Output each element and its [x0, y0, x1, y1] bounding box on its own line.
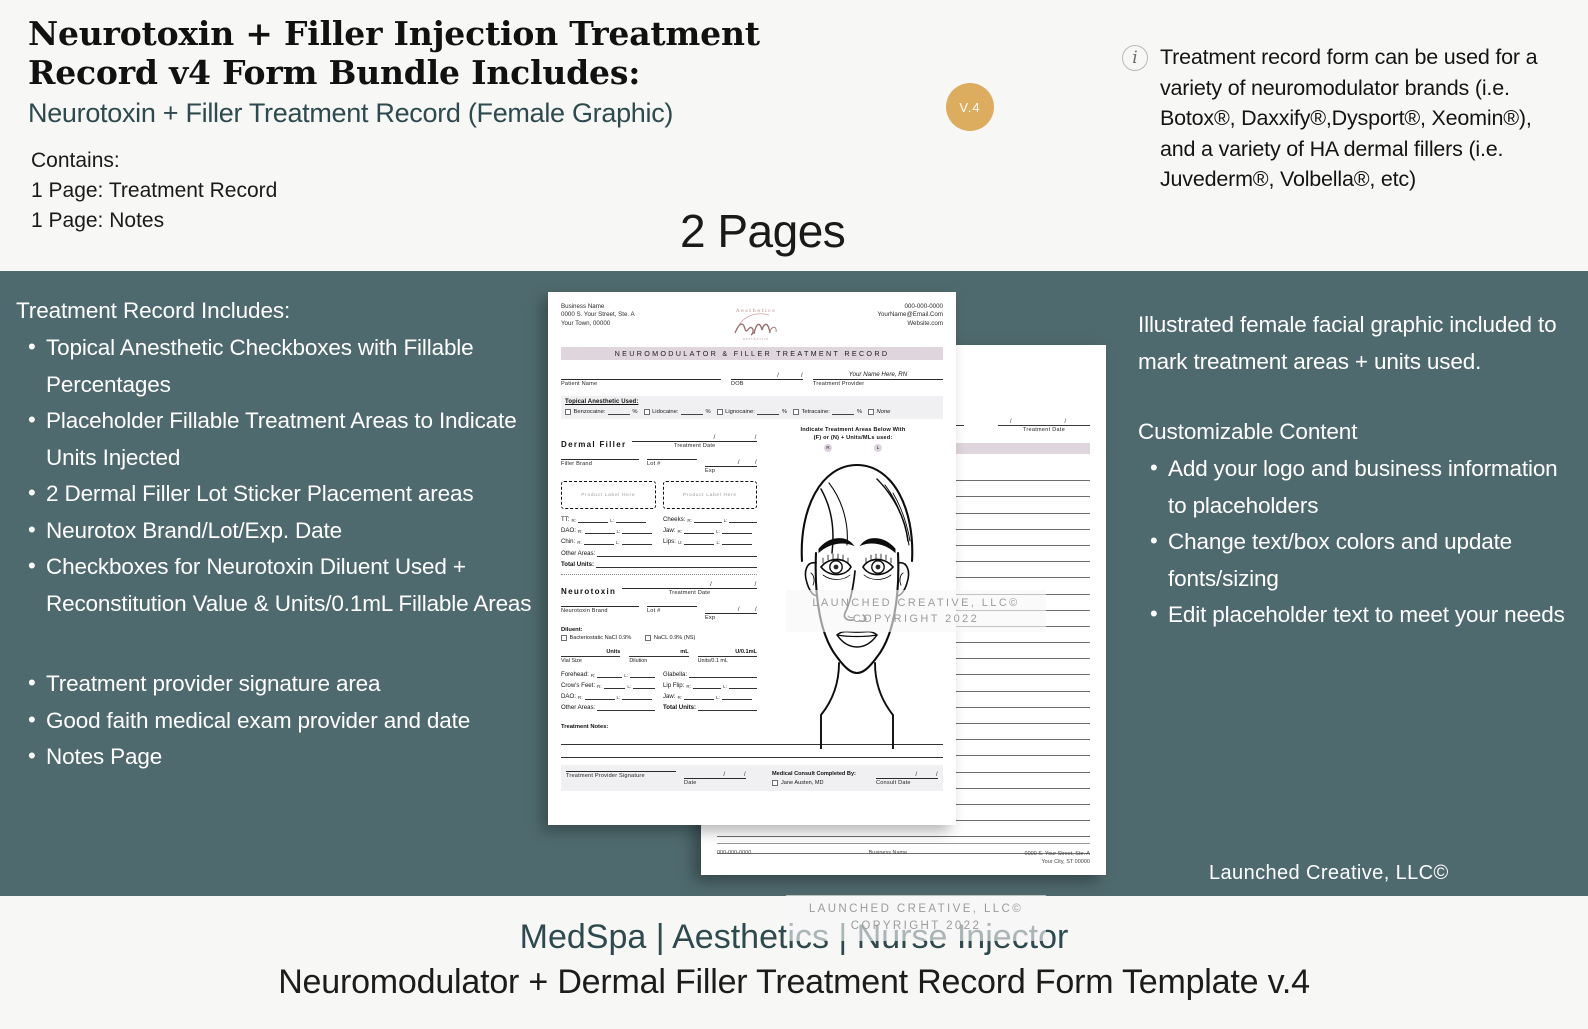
units-input[interactable]: [630, 671, 655, 678]
form-letterhead: Business Name 0000 S. Your Street, Ste. …: [561, 303, 943, 343]
filler-lot-field[interactable]: Lot #: [647, 459, 697, 474]
units-input[interactable]: [693, 682, 721, 689]
patient-name-field[interactable]: Patient Name: [561, 379, 721, 387]
diluent-label: NaCL 0.9% (NS): [654, 635, 695, 641]
area-name: Jaw:: [663, 527, 676, 534]
side-left-label: L:: [627, 684, 631, 689]
diluent-label: Bacteriostatic NaCl 0.9%: [570, 635, 632, 641]
anesthetic-option-lignocaine[interactable]: Lignocaine: %: [717, 409, 787, 415]
side-left-label: L:: [610, 518, 614, 523]
anesthetic-label: Benzocaine:: [574, 409, 606, 415]
treatment-date-label: Treatment Date: [622, 589, 757, 596]
svg-text:Aesthetics: Aesthetics: [735, 308, 776, 314]
neuro-area-jaw[interactable]: Jaw: R: L:: [663, 693, 757, 700]
neuro-area-dao[interactable]: DAO: R: L:: [561, 693, 655, 700]
area-name: Chin:: [561, 538, 575, 545]
area-name: Lips:: [663, 538, 676, 545]
filler-treatment-areas: TT: R: L: Cheeks: R: L:: [561, 516, 757, 568]
units-cap: U/0.1mL: [698, 649, 757, 657]
consult-date-field[interactable]: // Consult Date: [876, 771, 938, 786]
units-cap: Units: [561, 649, 620, 657]
diluent-options: Bacteriostatic NaCl 0.9% NaCL 0.9% (NS): [561, 635, 757, 641]
form-banner-title: NEUROMODULATOR & FILLER TREATMENT RECORD: [561, 347, 943, 360]
total-units-input[interactable]: [596, 561, 757, 568]
area-name: Jaw:: [663, 693, 676, 700]
business-name: Business Name: [561, 303, 635, 311]
table-row: DAO: R: L: Jaw: R: L:: [561, 527, 757, 534]
section-divider: [561, 574, 757, 575]
units-sub: Dilution: [629, 657, 688, 664]
product-title-line2: Record v4 Form Bundle Includes:: [28, 53, 988, 92]
table-row: TT: R: L: Cheeks: R: L:: [561, 516, 757, 523]
product-label-box[interactable]: Product Label Here: [561, 481, 656, 509]
dob-field[interactable]: // DOB: [731, 372, 803, 387]
units-input[interactable]: [585, 693, 615, 700]
other-areas-input[interactable]: [597, 550, 757, 557]
neurotoxin-treatment-areas: Forehead: R: L: Glabella:: [561, 671, 757, 712]
checkbox-benzocaine[interactable]: [565, 409, 571, 415]
units-input[interactable]: [729, 682, 757, 689]
bottom-caption-band: MedSpa | Aesthetics | Nurse Injector Neu…: [0, 896, 1588, 1029]
checkbox-tetracaine[interactable]: [793, 409, 799, 415]
neurotoxin-title: Neurotoxin: [561, 587, 616, 596]
diluent-option-bacteriostatic[interactable]: Bacteriostatic NaCl 0.9%: [561, 635, 631, 641]
neuro-area-crows-feet[interactable]: Crow's Feet: R: L:: [561, 682, 655, 689]
treatment-provider-value: Your Name Here, RN: [813, 371, 943, 379]
percent-input[interactable]: [608, 409, 630, 415]
side-left-label: L:: [716, 695, 720, 700]
medical-consult-provider[interactable]: Jane Austen, MD: [772, 780, 868, 786]
signature-label: Treatment Provider Signature: [566, 772, 676, 779]
percent-symbol: %: [782, 409, 787, 415]
area-name: Crow's Feet:: [561, 682, 595, 689]
list-item: 2 Dermal Filler Lot Sticker Placement ar…: [16, 476, 556, 513]
date-label: Date: [684, 779, 746, 786]
side-left-label: L:: [724, 518, 728, 523]
anesthetic-option-none[interactable]: None: [868, 409, 890, 415]
units-per-tenth-ml-field[interactable]: U/0.1mL Units/0.1 mL: [698, 649, 757, 664]
anesthetic-label: Lignocaine:: [725, 409, 755, 415]
topical-anesthetic-options: Benzocaine: % Lidocaine: % Lignocaine:: [565, 409, 939, 415]
list-item: Good faith medical exam provider and dat…: [16, 703, 556, 740]
side-left-label: L:: [716, 529, 720, 534]
face-diagram-column: Indicate Treatment Areas Below With (F) …: [763, 427, 943, 716]
letterhead-contact: 000-000-0000 YourName@Email.Com Website.…: [877, 303, 943, 328]
reconstitution-row: Units Vial Size mL Dilution U/0.1mL Unit…: [561, 649, 757, 664]
neuro-area-glabella[interactable]: Glabella:: [663, 671, 757, 678]
neurotoxin-brand-field[interactable]: Neurotoxin Brand: [561, 606, 639, 621]
caption-line1: MedSpa | Aesthetics | Nurse Injector: [0, 918, 1588, 957]
notes-treatment-date-field: / / Treatment Date: [998, 419, 1090, 433]
percent-input[interactable]: [681, 409, 703, 415]
list-item: Checkboxes for Neurotoxin Diluent Used +…: [16, 549, 556, 622]
side-right-label: R:: [678, 529, 683, 534]
anesthetic-option-tetracaine[interactable]: Tetracaine: %: [793, 409, 862, 415]
right-feature-list: Add your logo and business information t…: [1138, 451, 1578, 634]
side-right-label: R:: [687, 518, 692, 523]
table-row: Total Units:: [561, 561, 757, 568]
side-left-label: L:: [624, 673, 628, 678]
area-name: Cheeks:: [663, 516, 685, 523]
table-row: Crow's Feet: R: L: Lip Flip: R: L:: [561, 682, 757, 689]
lot-label: Lot #: [647, 460, 697, 467]
dermal-filler-header: Dermal Filler // Treatment Date: [561, 434, 757, 449]
topical-anesthetic-section: Topical Anesthetic Used: Benzocaine: % L…: [561, 396, 943, 419]
filler-total-units[interactable]: Total Units:: [561, 561, 757, 568]
units-input[interactable]: [722, 538, 752, 545]
list-item: Add your logo and business information t…: [1138, 451, 1578, 524]
table-row: Forehead: R: L: Glabella:: [561, 671, 757, 678]
info-callout-text: Treatment record form can be used for a …: [1160, 42, 1572, 195]
female-face-graphic[interactable]: [759, 449, 939, 751]
neurotoxin-exp-field[interactable]: // Exp: [705, 606, 757, 621]
product-subtitle: Neurotoxin + Filler Treatment Record (Fe…: [28, 93, 988, 133]
units-input[interactable]: [597, 671, 622, 678]
side-right-label: R:: [571, 518, 576, 523]
dilution-field[interactable]: mL Dilution: [629, 649, 688, 664]
area-name: Lip Flip:: [663, 682, 684, 689]
units-input[interactable]: [684, 538, 714, 545]
list-item: Neurotox Brand/Lot/Exp. Date: [16, 513, 556, 550]
topical-anesthetic-title: Topical Anesthetic Used:: [565, 399, 939, 405]
list-item: Edit placeholder text to meet your needs: [1138, 597, 1578, 634]
exp-label: Exp: [705, 614, 757, 621]
dob-label: DOB: [731, 380, 803, 387]
area-name: Forehead:: [561, 671, 589, 678]
top-info-band: Neurotoxin + Filler Injection Treatment …: [0, 0, 1588, 271]
side-left-label: L:: [617, 695, 621, 700]
title-block: Neurotoxin + Filler Injection Treatment …: [28, 14, 988, 133]
left-column-heading: Treatment Record Includes:: [16, 295, 556, 326]
filler-area-cheeks[interactable]: Cheeks: R: L:: [663, 516, 757, 523]
units-input[interactable]: [578, 516, 608, 523]
filler-area-jaw[interactable]: Jaw: R: L:: [663, 527, 757, 534]
list-item: Treatment provider signature area: [16, 666, 556, 703]
contact-email: YourName@Email.Com: [877, 311, 943, 319]
contact-phone: 000-000-0000: [877, 303, 943, 311]
other-areas-input[interactable]: [597, 704, 655, 711]
units-input[interactable]: [729, 516, 757, 523]
units-cap: mL: [629, 649, 688, 657]
treatment-date-label: Treatment Date: [632, 442, 757, 449]
notes-treatment-date-label: Treatment Date: [998, 426, 1090, 433]
checkbox-nacl-ns[interactable]: [645, 635, 651, 641]
diluent-option-nacl[interactable]: NaCL 0.9% (NS): [645, 635, 695, 641]
caption-line2: Neuromodulator + Dermal Filler Treatment…: [0, 963, 1588, 1002]
product-label-box[interactable]: Product Label Here: [663, 481, 758, 509]
units-input[interactable]: [622, 693, 652, 700]
units-input[interactable]: [584, 538, 614, 545]
area-name: Glabella:: [663, 671, 687, 678]
notes-footer-city: Your City, ST 00000: [1025, 858, 1090, 866]
left-feature-list: Topical Anesthetic Checkboxes with Filla…: [16, 330, 556, 622]
treatment-record-page-preview[interactable]: Business Name 0000 S. Your Street, Ste. …: [548, 292, 956, 825]
brand-credit: Launched Creative, LLC©: [1209, 862, 1449, 885]
table-row: Other Areas: Total Units:: [561, 704, 757, 711]
area-name: DAO:: [561, 527, 576, 534]
filler-exp-field[interactable]: // Exp: [705, 459, 757, 474]
total-units-label: Total Units:: [561, 561, 594, 568]
anesthetic-option-benzocaine[interactable]: Benzocaine: %: [565, 409, 638, 415]
units-input[interactable]: [722, 527, 752, 534]
aesthetics-script-logo: Aesthetics aesthetics: [719, 303, 793, 343]
filler-brand-label: Filler Brand: [561, 460, 639, 467]
contains-label: Contains:: [31, 146, 277, 176]
anesthetic-label: Lidocaine:: [652, 409, 678, 415]
left-feature-list-secondary: Treatment provider signature area Good f…: [16, 666, 556, 776]
svg-text:aesthetics: aesthetics: [743, 337, 769, 341]
units-input[interactable]: [722, 693, 752, 700]
patient-identity-row: Patient Name // DOB Your Name Here, RN T…: [561, 371, 943, 387]
side-right-label: R:: [678, 695, 683, 700]
right-feature-column: Illustrated female facial graphic includ…: [1138, 307, 1578, 634]
units-input[interactable]: [694, 516, 722, 523]
medical-consult-title: Medical Consult Completed By:: [772, 771, 868, 777]
checkbox-none[interactable]: [868, 409, 874, 415]
checkbox-medical-consult[interactable]: [772, 780, 778, 786]
checkbox-lidocaine[interactable]: [644, 409, 650, 415]
list-item: Change text/box colors and update fonts/…: [1138, 524, 1578, 597]
units-input[interactable]: [622, 538, 652, 545]
side-left-label: L:: [616, 540, 620, 545]
checkbox-bacteriostatic-nacl[interactable]: [561, 635, 567, 641]
filler-area-tt[interactable]: TT: R: L:: [561, 516, 655, 523]
area-name: DAO:: [561, 693, 576, 700]
side-right-label: R:: [591, 673, 596, 678]
right-column-heading: Customizable Content: [1138, 416, 1578, 447]
dermal-filler-title: Dermal Filler: [561, 440, 626, 449]
face-instructions-line1: Indicate Treatment Areas Below With: [763, 427, 943, 435]
patient-name-label: Patient Name: [561, 380, 721, 387]
business-city: Your Town, 00000: [561, 320, 635, 328]
other-areas-label: Other Areas:: [561, 704, 595, 711]
anesthetic-label: Tetracaine:: [801, 409, 829, 415]
units-input[interactable]: [622, 527, 652, 534]
total-units-input[interactable]: [698, 704, 757, 711]
face-instructions-line2: (F) or (N) + Units/MLs used:: [763, 435, 943, 443]
signature-date-field[interactable]: // Date: [684, 771, 746, 786]
neurotoxin-treatment-date-field[interactable]: // Treatment Date: [622, 581, 757, 596]
treatment-provider-label: Treatment Provider: [813, 380, 943, 387]
info-callout: i Treatment record form can be used for …: [1122, 42, 1572, 195]
version-badge: V.4: [946, 83, 994, 131]
units-input[interactable]: [684, 693, 714, 700]
side-lower-label: L:: [716, 540, 720, 545]
product-title-line1: Neurotoxin + Filler Injection Treatment: [28, 14, 988, 53]
filler-brand-field[interactable]: Filler Brand: [561, 459, 639, 474]
anesthetic-option-lidocaine[interactable]: Lidocaine: %: [644, 409, 711, 415]
medical-consult-block: Medical Consult Completed By: Jane Auste…: [772, 771, 938, 786]
document-preview-stack: / / OB / / Treatment Date E S 000-000-00…: [546, 290, 1126, 890]
side-right-label: R:: [578, 529, 583, 534]
percent-input[interactable]: [832, 409, 854, 415]
other-areas-label: Other Areas:: [561, 550, 595, 557]
filler-area-lips[interactable]: Lips: U: L:: [663, 538, 757, 545]
units-input[interactable]: [616, 516, 646, 523]
table-row: Chin: R: L: Lips: U: L:: [561, 538, 757, 545]
notes-footer-phone: 000-000-0000: [717, 850, 751, 866]
notes-footer-street: 0000 S. Your Street, Ste. A: [1025, 850, 1090, 858]
filler-other-areas[interactable]: Other Areas:: [561, 550, 757, 557]
side-left-label: L:: [723, 684, 727, 689]
notes-page-footer: 000-000-0000 Business Name 0000 S. Your …: [717, 843, 1090, 866]
filler-area-chin[interactable]: Chin: R: L:: [561, 538, 655, 545]
business-street: 0000 S. Your Street, Ste. A: [561, 311, 635, 319]
notes-footer-address: 0000 S. Your Street, Ste. A Your City, S…: [1025, 850, 1090, 866]
side-left-label: L:: [617, 529, 621, 534]
neuro-other-areas[interactable]: Other Areas:: [561, 704, 655, 711]
consult-date-label: Consult Date: [876, 779, 938, 786]
table-row: DAO: R: L: Jaw: R: L:: [561, 693, 757, 700]
list-item: Notes Page: [16, 739, 556, 776]
percent-symbol: %: [632, 409, 637, 415]
units-input[interactable]: [684, 527, 714, 534]
lot-label: Lot #: [647, 607, 697, 614]
signature-section: Treatment Provider Signature // Date Med…: [561, 765, 943, 791]
neurotoxin-brand-label: Neurotoxin Brand: [561, 607, 639, 614]
letterhead-business: Business Name 0000 S. Your Street, Ste. …: [561, 303, 635, 328]
side-right-label: R:: [686, 684, 691, 689]
info-icon: i: [1122, 45, 1148, 71]
filler-lot-row: Filler Brand Lot # // Exp: [561, 459, 757, 474]
units-sub: Vial Size: [561, 657, 620, 664]
face-instructions: Indicate Treatment Areas Below With (F) …: [763, 427, 943, 442]
list-item: Topical Anesthetic Checkboxes with Filla…: [16, 330, 556, 403]
neuro-area-forehead[interactable]: Forehead: R: L:: [561, 671, 655, 678]
anesthetic-label: None: [876, 409, 890, 415]
page-count-label: 2 Pages: [680, 204, 845, 258]
filler-area-dao[interactable]: DAO: R: L:: [561, 527, 655, 534]
contains-item-0: 1 Page: Treatment Record: [31, 176, 277, 206]
units-input[interactable]: [604, 682, 626, 689]
left-feature-column: Treatment Record Includes: Topical Anest…: [16, 295, 556, 776]
percent-symbol: %: [706, 409, 711, 415]
neurotoxin-lot-row: Neurotoxin Brand Lot # // Exp: [561, 606, 757, 621]
neurotoxin-header: Neurotoxin // Treatment Date: [561, 581, 757, 596]
units-sub: Units/0.1 mL: [698, 657, 757, 664]
units-input[interactable]: [689, 671, 757, 678]
filler-treatment-date-field[interactable]: // Treatment Date: [632, 434, 757, 449]
side-right-label: R:: [597, 684, 602, 689]
consult-provider-name: Jane Austen, MD: [781, 780, 824, 786]
side-right-label: R:: [578, 695, 583, 700]
diluent-title: Diluent:: [561, 627, 757, 633]
neuro-area-lip-flip[interactable]: Lip Flip: R: L:: [663, 682, 757, 689]
table-row: Other Areas:: [561, 550, 757, 557]
product-label-placeholders: Product Label Here Product Label Here: [561, 481, 757, 509]
list-item: Placeholder Fillable Treatment Areas to …: [16, 403, 556, 476]
treatment-provider-field[interactable]: Your Name Here, RN Treatment Provider: [813, 371, 943, 387]
contains-item-1: 1 Page: Notes: [31, 206, 277, 236]
neuro-total-units[interactable]: Total Units:: [663, 704, 757, 711]
total-units-label: Total Units:: [663, 704, 696, 711]
side-right-label: R:: [577, 540, 582, 545]
side-upper-label: U:: [678, 540, 683, 545]
provider-signature-field[interactable]: Treatment Provider Signature: [566, 771, 676, 786]
right-column-paragraph: Illustrated female facial graphic includ…: [1138, 307, 1578, 380]
notes-footer-business: Business Name: [869, 850, 908, 866]
neurotoxin-lot-field[interactable]: Lot #: [647, 606, 697, 621]
percent-symbol: %: [857, 409, 862, 415]
area-name: TT:: [561, 516, 569, 523]
vial-size-field[interactable]: Units Vial Size: [561, 649, 620, 664]
units-input[interactable]: [633, 682, 655, 689]
contains-block: Contains: 1 Page: Treatment Record 1 Pag…: [31, 146, 277, 236]
contact-website: Website.com: [877, 320, 943, 328]
units-input[interactable]: [585, 527, 615, 534]
checkbox-lignocaine[interactable]: [717, 409, 723, 415]
exp-label: Exp: [705, 467, 757, 474]
percent-input[interactable]: [757, 409, 779, 415]
